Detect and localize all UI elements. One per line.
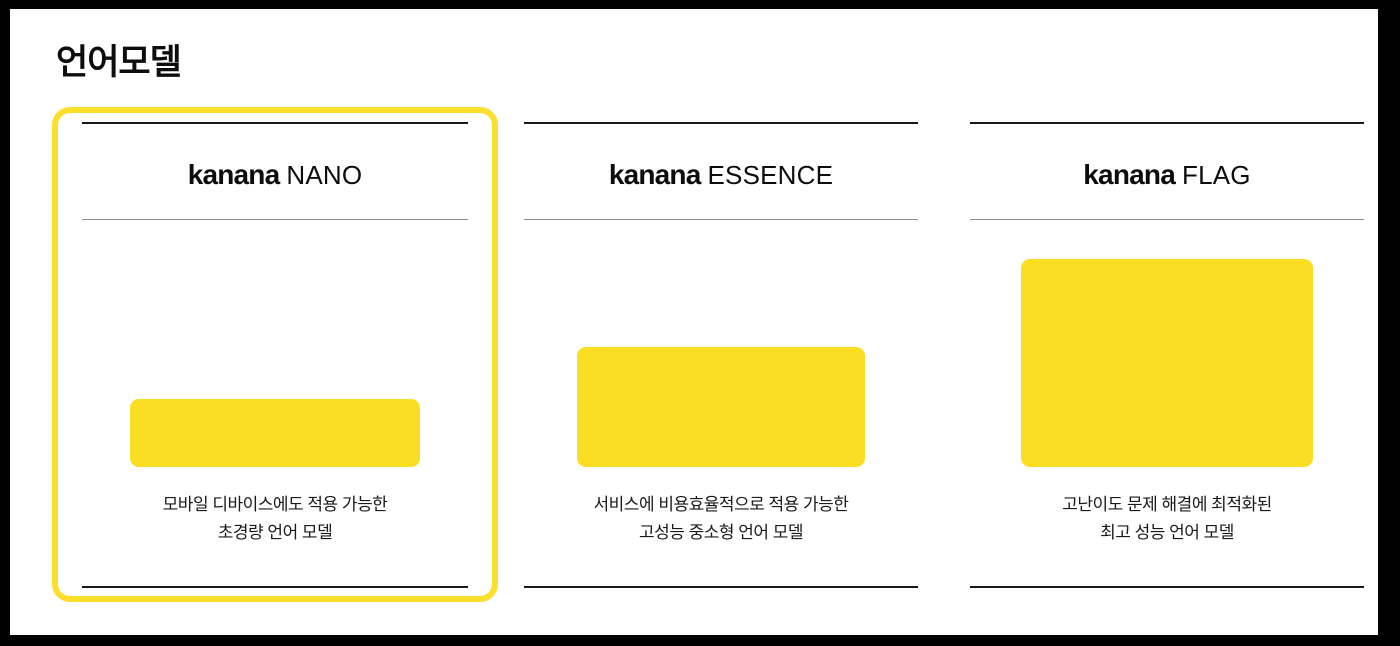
model-card-grid: kanana NANO 모바일 디바이스에도 적용 가능한 초경량 언어 모델 (56, 113, 1332, 596)
description-line: 고성능 중소형 언어 모델 (516, 519, 926, 547)
size-bar-area-nano (82, 231, 468, 467)
model-card-body: kanana ESSENCE 서비스에 비용효율적으로 적용 가능한 고성능 중… (502, 113, 940, 596)
variant-label: ESSENCE (708, 160, 834, 191)
size-bar-nano (130, 399, 420, 467)
brand-label: kanana (1083, 159, 1175, 191)
variant-label: FLAG (1182, 160, 1251, 191)
model-card-essence[interactable]: kanana ESSENCE 서비스에 비용효율적으로 적용 가능한 고성능 중… (502, 113, 940, 596)
model-card-flag[interactable]: kanana FLAG 고난이도 문제 해결에 최적화된 최고 성능 언어 모델 (948, 113, 1386, 596)
model-card-nano[interactable]: kanana NANO 모바일 디바이스에도 적용 가능한 초경량 언어 모델 (56, 113, 494, 596)
size-bar-essence (577, 347, 865, 467)
card-bottom-rule (524, 586, 918, 588)
description-line: 고난이도 문제 해결에 최적화된 (962, 491, 1372, 519)
card-header-nano: kanana NANO (82, 153, 468, 197)
brand-label: kanana (188, 159, 280, 191)
page-title: 언어모델 (56, 43, 181, 83)
brand-label: kanana (609, 159, 701, 191)
card-description-flag: 고난이도 문제 해결에 최적화된 최고 성능 언어 모델 (962, 491, 1372, 546)
description-line: 서비스에 비용효율적으로 적용 가능한 (516, 491, 926, 519)
description-line: 최고 성능 언어 모델 (962, 519, 1372, 547)
card-description-essence: 서비스에 비용효율적으로 적용 가능한 고성능 중소형 언어 모델 (516, 491, 926, 546)
model-card-body: kanana FLAG 고난이도 문제 해결에 최적화된 최고 성능 언어 모델 (948, 113, 1386, 596)
page-canvas: 언어모델 kanana NANO 모바일 디바이스에도 적용 가능한 초경량 언… (10, 9, 1378, 635)
card-top-rule (524, 122, 918, 124)
card-header-essence: kanana ESSENCE (524, 153, 918, 197)
size-bar-area-flag (970, 231, 1364, 467)
card-header-divider (524, 219, 918, 220)
card-bottom-rule (970, 586, 1364, 588)
description-line: 모바일 디바이스에도 적용 가능한 (74, 491, 476, 519)
size-bar-area-essence (524, 231, 918, 467)
card-header-divider (82, 219, 468, 220)
description-line: 초경량 언어 모델 (74, 519, 476, 547)
size-bar-flag (1021, 259, 1313, 467)
card-header-divider (970, 219, 1364, 220)
card-top-rule (82, 122, 468, 124)
card-description-nano: 모바일 디바이스에도 적용 가능한 초경량 언어 모델 (74, 491, 476, 546)
variant-label: NANO (286, 160, 362, 191)
model-card-body: kanana NANO 모바일 디바이스에도 적용 가능한 초경량 언어 모델 (56, 113, 494, 596)
card-top-rule (970, 122, 1364, 124)
card-bottom-rule (82, 586, 468, 588)
card-header-flag: kanana FLAG (970, 153, 1364, 197)
